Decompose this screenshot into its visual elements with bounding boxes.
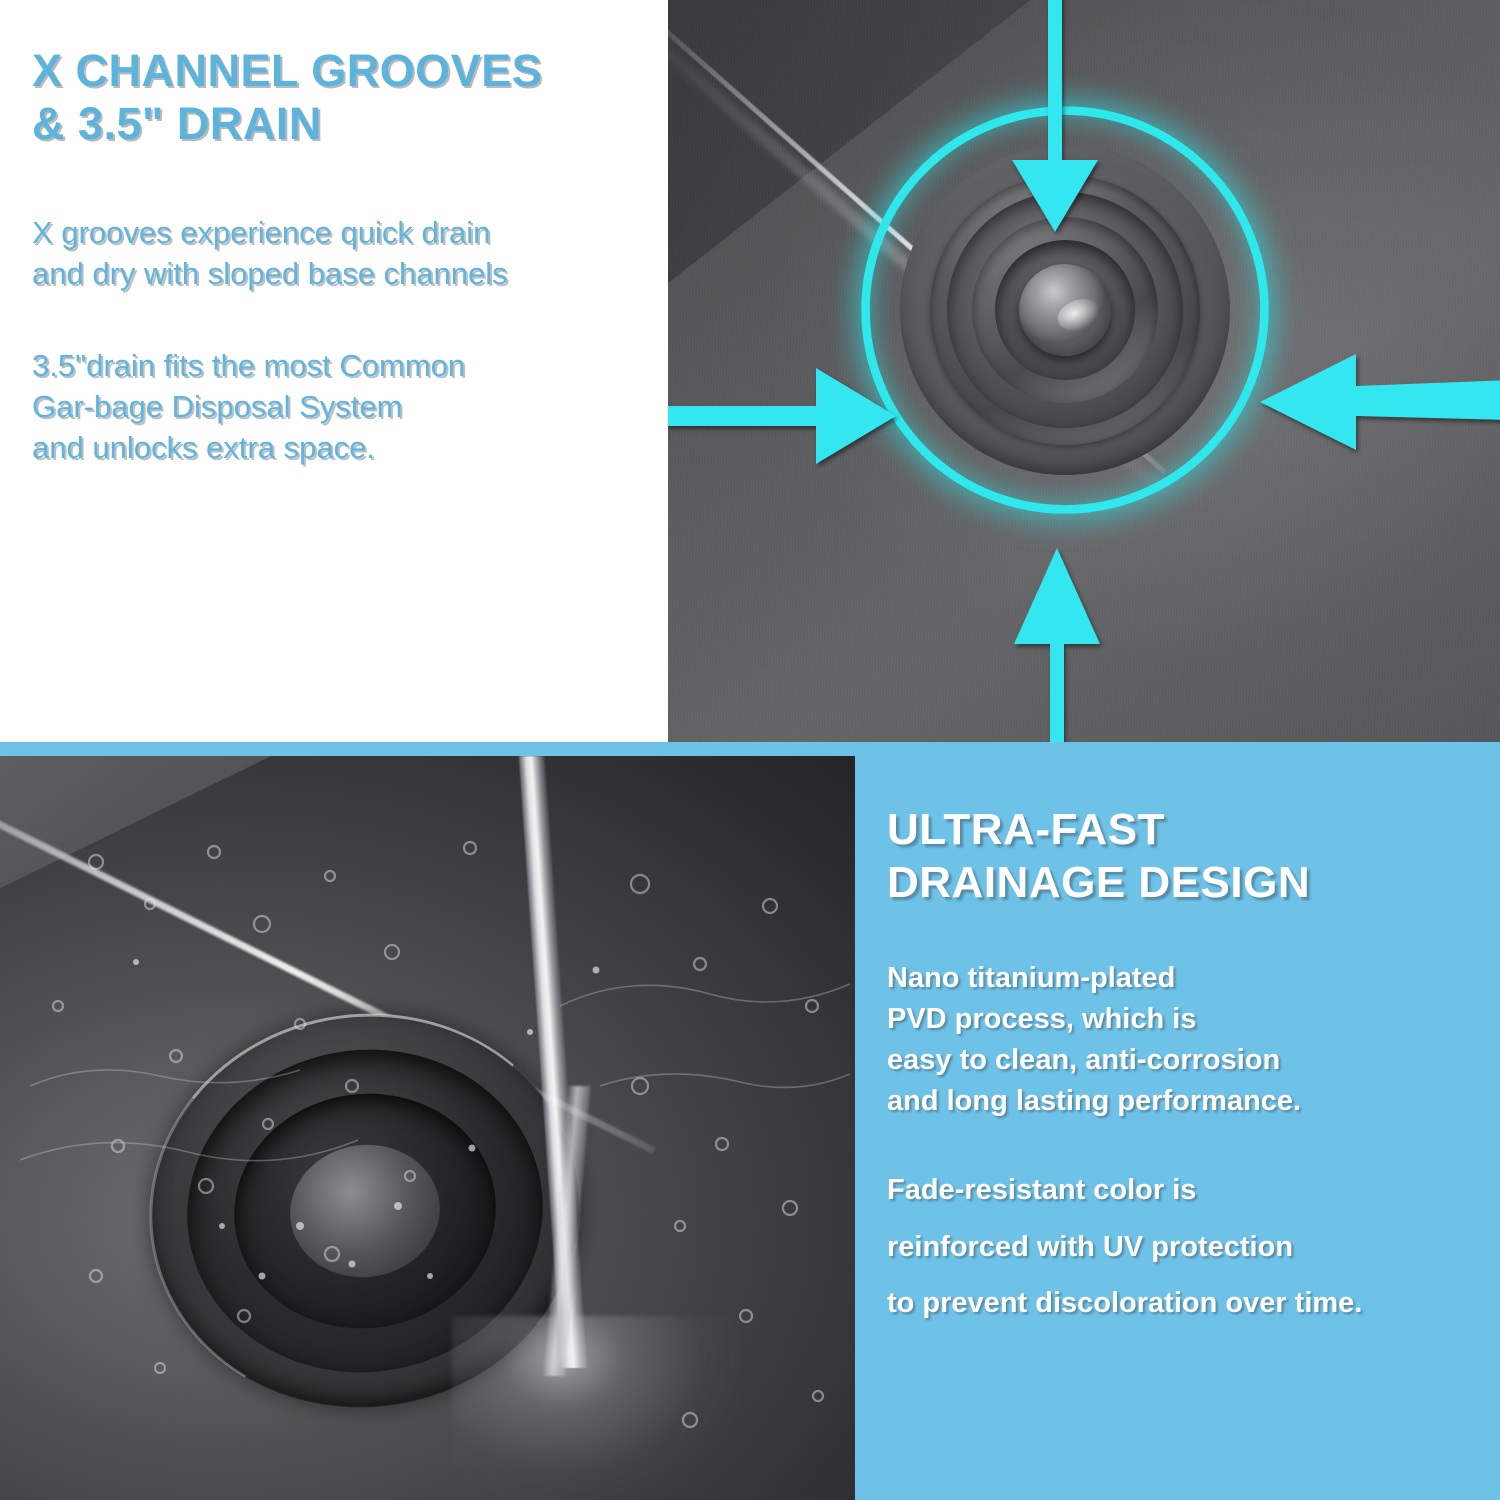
arrow-up-icon bbox=[1014, 548, 1100, 742]
x-grooves-paragraph: X grooves experience quick drain and dry… bbox=[32, 212, 638, 294]
drain-size-paragraph: 3.5"drain fits the most Common Gar-bage … bbox=[32, 345, 638, 469]
bottom-row: ULTRA-FAST DRAINAGE DESIGN Nano titanium… bbox=[0, 756, 1500, 1500]
arrow-down-icon bbox=[1012, 0, 1098, 232]
sink-drain-photo bbox=[668, 0, 1500, 742]
section-divider bbox=[0, 742, 1500, 756]
arrow-right-icon bbox=[668, 368, 896, 464]
infographic-page: X CHANNEL GROOVES & 3.5" DRAIN X grooves… bbox=[0, 0, 1500, 1500]
water-drainage-photo bbox=[0, 756, 855, 1500]
ultra-fast-drainage-title: ULTRA-FAST DRAINAGE DESIGN bbox=[887, 804, 1474, 910]
top-row: X CHANNEL GROOVES & 3.5" DRAIN X grooves… bbox=[0, 0, 1500, 742]
panel-ultra-fast-drainage: ULTRA-FAST DRAINAGE DESIGN Nano titanium… bbox=[855, 756, 1500, 1500]
arrow-left-icon bbox=[1260, 350, 1500, 454]
nano-titanium-paragraph: Nano titanium-plated PVD process, which … bbox=[887, 958, 1474, 1123]
water-droplets bbox=[0, 756, 855, 1500]
panel-x-channel-grooves: X CHANNEL GROOVES & 3.5" DRAIN X grooves… bbox=[0, 0, 668, 742]
x-channel-grooves-title: X CHANNEL GROOVES & 3.5" DRAIN bbox=[32, 44, 638, 150]
fade-resistant-paragraph: Fade-resistant color is reinforced with … bbox=[887, 1162, 1474, 1332]
